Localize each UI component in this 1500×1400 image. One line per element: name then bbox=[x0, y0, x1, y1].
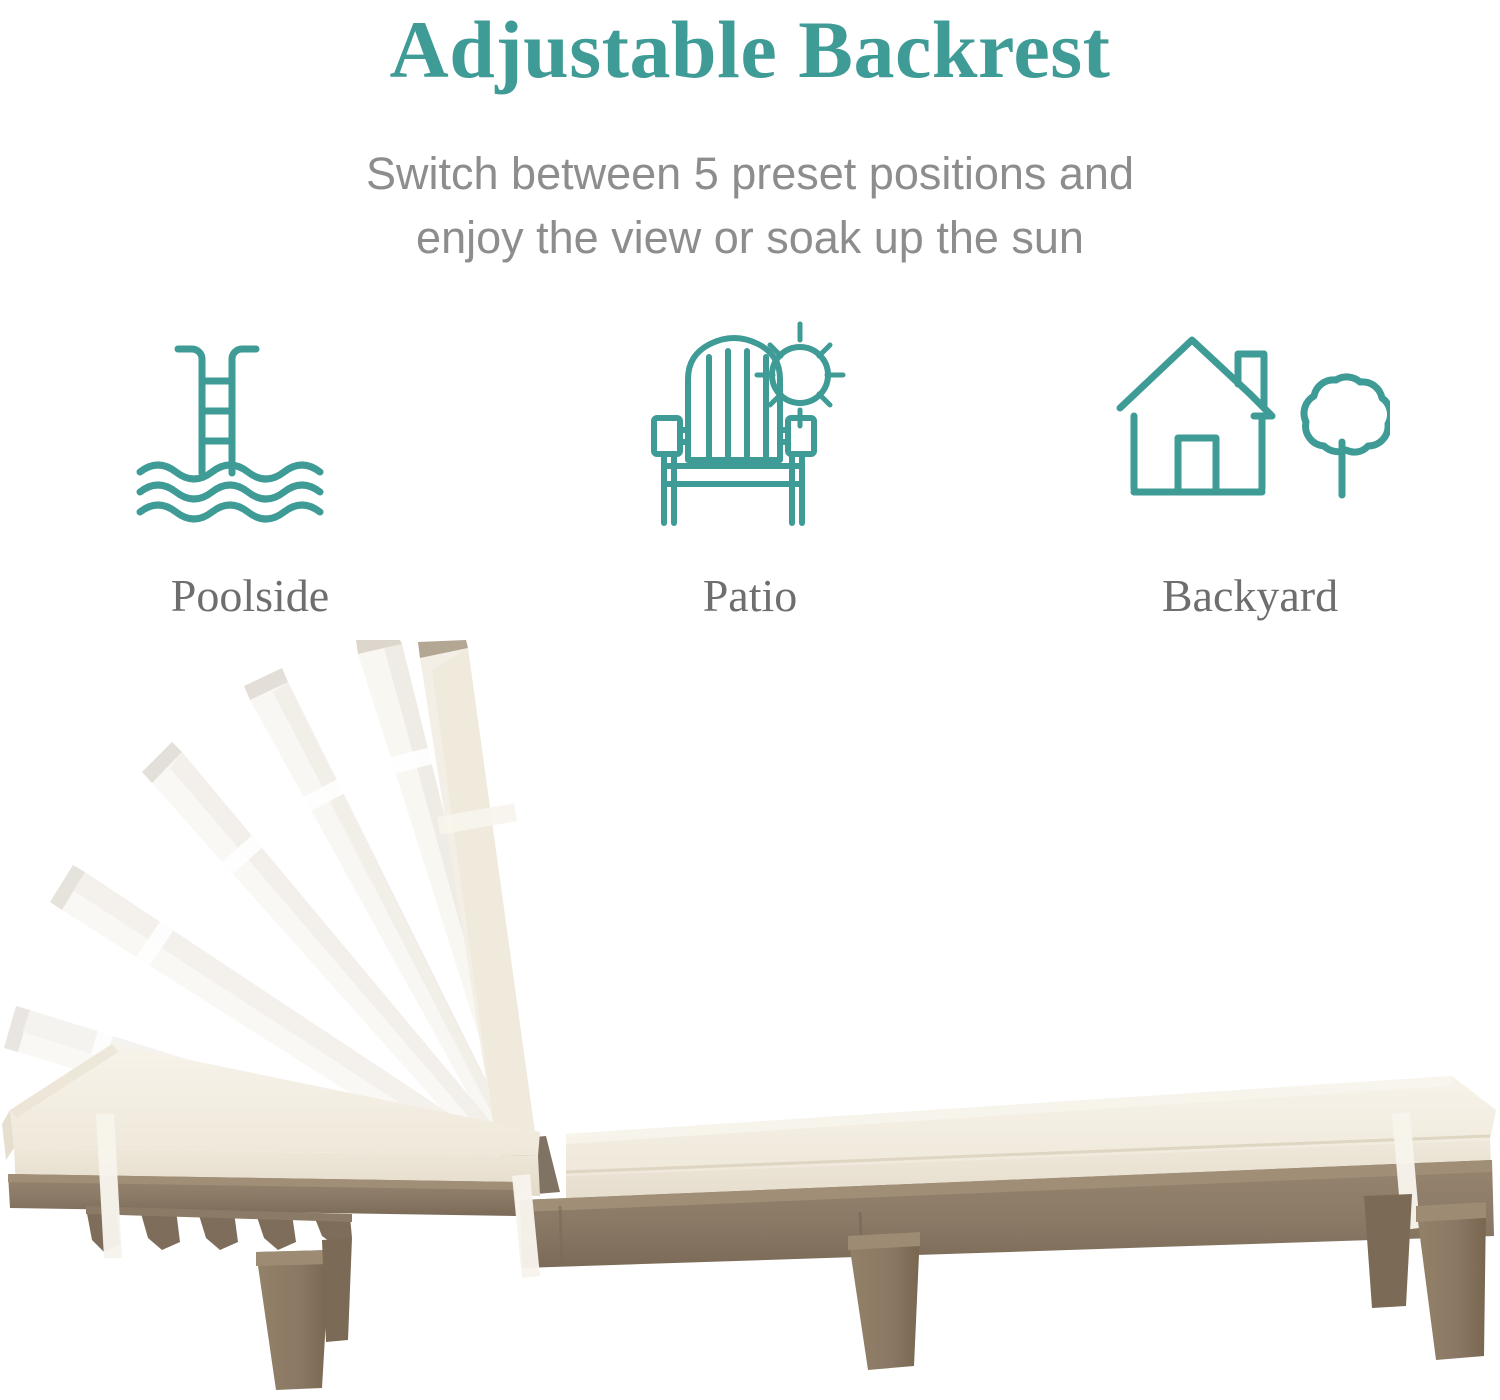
ratchet-teeth bbox=[86, 1206, 352, 1252]
feature-item-patio: Patio bbox=[540, 320, 960, 622]
leg-rear-right bbox=[1364, 1194, 1412, 1308]
leg-front-left bbox=[256, 1250, 330, 1390]
feature-item-poolside: Poolside bbox=[40, 320, 460, 622]
leg-front-right bbox=[1416, 1202, 1486, 1360]
subtitle-line-1: Switch between 5 preset positions and bbox=[366, 148, 1134, 199]
house-tree-icon bbox=[1110, 320, 1390, 530]
adirondack-chair-sun-icon bbox=[640, 320, 860, 530]
pool-ladder-icon bbox=[130, 320, 370, 530]
feature-icon-row: Poolside bbox=[0, 320, 1500, 640]
feature-label-poolside: Poolside bbox=[171, 570, 329, 622]
leg-rear-left bbox=[322, 1238, 352, 1342]
leg-front-middle bbox=[848, 1232, 920, 1370]
page-title: Adjustable Backrest bbox=[0, 2, 1500, 98]
feature-item-backyard: Backyard bbox=[1040, 320, 1460, 622]
page-subtitle: Switch between 5 preset positions and en… bbox=[250, 142, 1250, 270]
product-image-chaise-lounge bbox=[0, 640, 1500, 1400]
feature-label-patio: Patio bbox=[703, 570, 798, 622]
subtitle-line-2: enjoy the view or soak up the sun bbox=[250, 206, 1250, 270]
feature-label-backyard: Backyard bbox=[1162, 570, 1338, 622]
product-feature-page: Adjustable Backrest Switch between 5 pre… bbox=[0, 0, 1500, 1400]
